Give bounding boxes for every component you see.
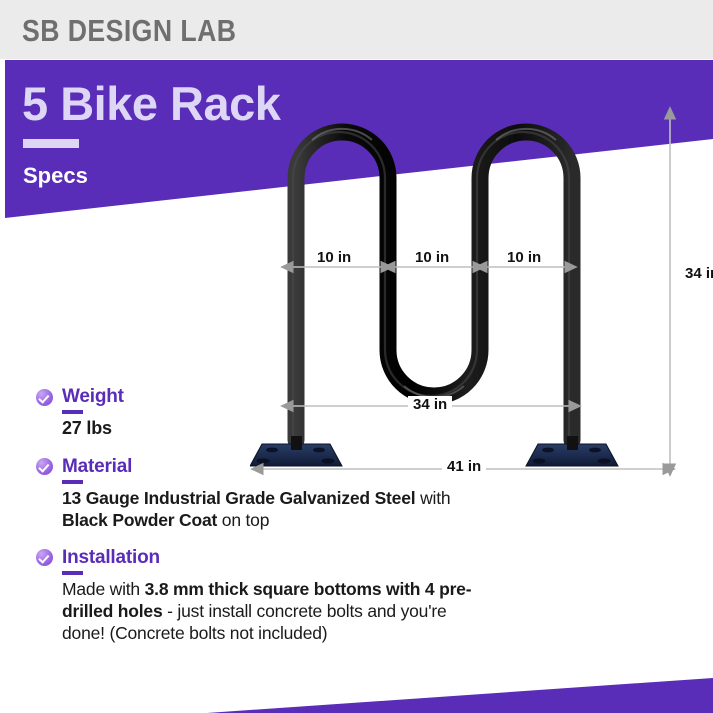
spec-list: Weight 27 lbs Material 13 Gauge Industri… — [36, 386, 486, 660]
brand-logo: SB DESIGN LAB — [22, 13, 236, 49]
dimension-label-span-3: 10 in — [502, 249, 546, 266]
spec-item-weight: Weight 27 lbs — [36, 386, 486, 440]
dimension-label-span-2: 10 in — [410, 249, 454, 266]
title-divider — [23, 139, 79, 148]
spec-item-installation: Installation Made with 3.8 mm thick squa… — [36, 547, 486, 644]
dimension-label-height: 34 in — [680, 265, 713, 282]
page-title: 5 Bike Rack — [22, 76, 280, 131]
spec-title-installation: Installation — [62, 547, 160, 569]
spec-underline — [62, 571, 83, 575]
spec-title-weight: Weight — [62, 386, 124, 408]
spec-underline — [62, 480, 83, 484]
spec-heading-row: Installation — [36, 547, 486, 569]
check-circle-icon — [36, 549, 53, 566]
page-subtitle: Specs — [23, 163, 88, 189]
dimension-label-span-1: 10 in — [312, 249, 356, 266]
spec-heading-row: Material — [36, 456, 486, 478]
bottom-accent-wedge — [0, 665, 713, 713]
spec-value-weight: 27 lbs — [62, 417, 486, 440]
check-circle-icon — [36, 458, 53, 475]
spec-item-material: Material 13 Gauge Industrial Grade Galva… — [36, 456, 486, 531]
spec-title-material: Material — [62, 456, 132, 478]
spec-underline — [62, 410, 83, 414]
check-circle-icon — [36, 389, 53, 406]
spec-heading-row: Weight — [36, 386, 486, 408]
spec-body-installation: Made with 3.8 mm thick square bottoms wi… — [62, 578, 486, 644]
infographic-canvas: SB DESIGN LAB 5 Bike Rack Specs — [0, 0, 713, 713]
spec-body-material: 13 Gauge Industrial Grade Galvanized Ste… — [62, 487, 486, 531]
